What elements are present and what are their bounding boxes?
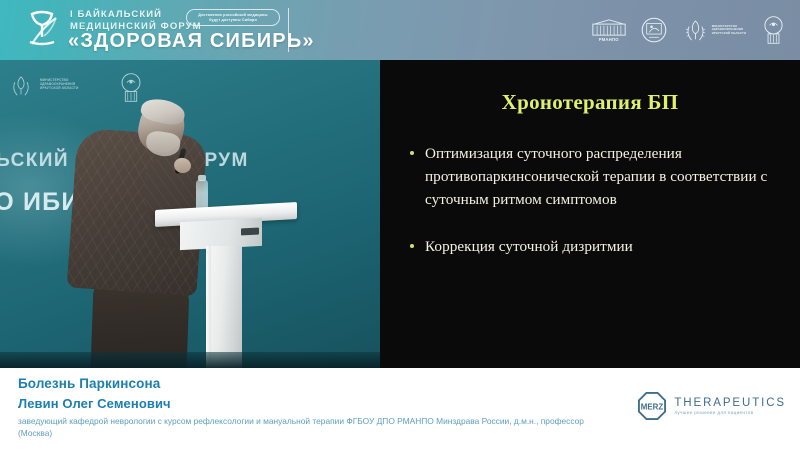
partner-logos: РМАНПО [592,9,786,51]
podium-column [206,246,242,368]
partner-logo-minzdrav-irkutsk: МИНИСТЕРСТВО ЗДРАВООХРАНЕНИЯ ИРКУТСКОЙ О… [682,17,746,44]
column-emblem-icon [761,15,786,45]
bullet-dot-icon [410,151,414,155]
merz-mark-text: MERZ [641,403,664,412]
backdrop-ministry-label: МИНИСТЕРСТВО ЗДРАВООХРАНЕНИЯ ИРКУТСКОЙ О… [40,78,78,90]
bullet-text: Оптимизация суточного распределения прот… [425,142,790,211]
video-feed[interactable]: МИНИСТЕРСТВО ЗДРАВООХРАНЕНИЯ ИРКУТСКОЙ О… [0,60,380,368]
list-item: Оптимизация суточного распределения прот… [410,142,790,211]
caduceus-wreath-icon [682,17,709,44]
bowl-of-hygieia-icon [16,4,68,56]
list-item: Коррекция суточной дизритмии [410,235,790,258]
presentation-screen: I БАЙКАЛЬСКИЙ МЕДИЦИНСКИЙ ФОРУМ «ЗДОРОВА… [0,0,800,450]
footer-bar: Болезнь Паркинсона Левин Олег Семенович … [0,368,800,450]
forum-slogan-badge: Достижения российской медицины будут дос… [186,9,280,26]
bullet-text: Коррекция суточной дизритмии [425,235,633,258]
event-header-bar: I БАЙКАЛЬСКИЙ МЕДИЦИНСКИЙ ФОРУМ «ЗДОРОВА… [0,0,800,60]
merz-octagon-icon: MERZ [638,392,666,420]
partner-label-line-3: ИРКУТСКОЙ ОБЛАСТИ [712,32,746,36]
forum-name: «ЗДОРОВАЯ СИБИРЬ» [68,30,315,52]
header-divider [288,8,289,52]
slide-bullet-list: Оптимизация суточного распределения прот… [410,142,790,282]
slide-title: Хронотерапия БП [380,90,800,115]
stage-floor [0,352,380,368]
forum-line-1: I БАЙКАЛЬСКИЙ [70,9,202,21]
partner-logo-circle-emblem [641,17,667,43]
speaker-description: заведующий кафедрой неврологии с курсом … [18,416,618,439]
partner-logo-rmanpo: РМАНПО [592,19,626,42]
building-icon [592,19,626,36]
bullet-dot-icon [410,244,414,248]
circular-emblem-icon [641,17,667,43]
speaker-name: Левин Олег Семенович [18,396,171,411]
sponsor-name: THERAPEUTICS [674,397,786,410]
talk-title: Болезнь Паркинсона [18,376,160,391]
backdrop-column-emblem-icon [118,72,144,108]
sponsor-text: THERAPEUTICS лучшее решение для пациенто… [674,397,786,416]
sponsor-tagline: лучшее решение для пациентов [674,410,786,416]
backdrop-ministry-line-3: ИРКУТСКОЙ ОБЛАСТИ [40,86,78,90]
backdrop-caduceus-wreath-icon [8,73,34,104]
partner-label-rmanpo: РМАНПО [599,37,619,42]
slogan-line-2: будут доступны Сибири [209,18,257,23]
podium-control-panel [241,228,259,236]
sponsor-logo: MERZ THERAPEUTICS лучшее решение для пац… [638,392,786,420]
slide-pane: Хронотерапия БП Оптимизация суточного ра… [380,60,800,368]
podium-column-edge [206,246,211,368]
partner-logo-column-emblem [761,15,786,45]
